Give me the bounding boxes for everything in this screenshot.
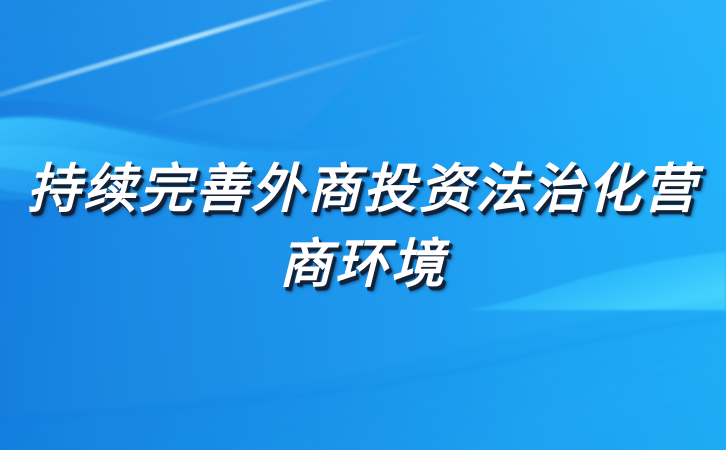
promo-banner: 持续完善外商投资法治化营 商环境: [0, 0, 726, 450]
wave-bottom-dark: [0, 300, 726, 450]
wave-decoration-layer: [0, 0, 726, 450]
wave-bottom-light: [462, 252, 726, 310]
